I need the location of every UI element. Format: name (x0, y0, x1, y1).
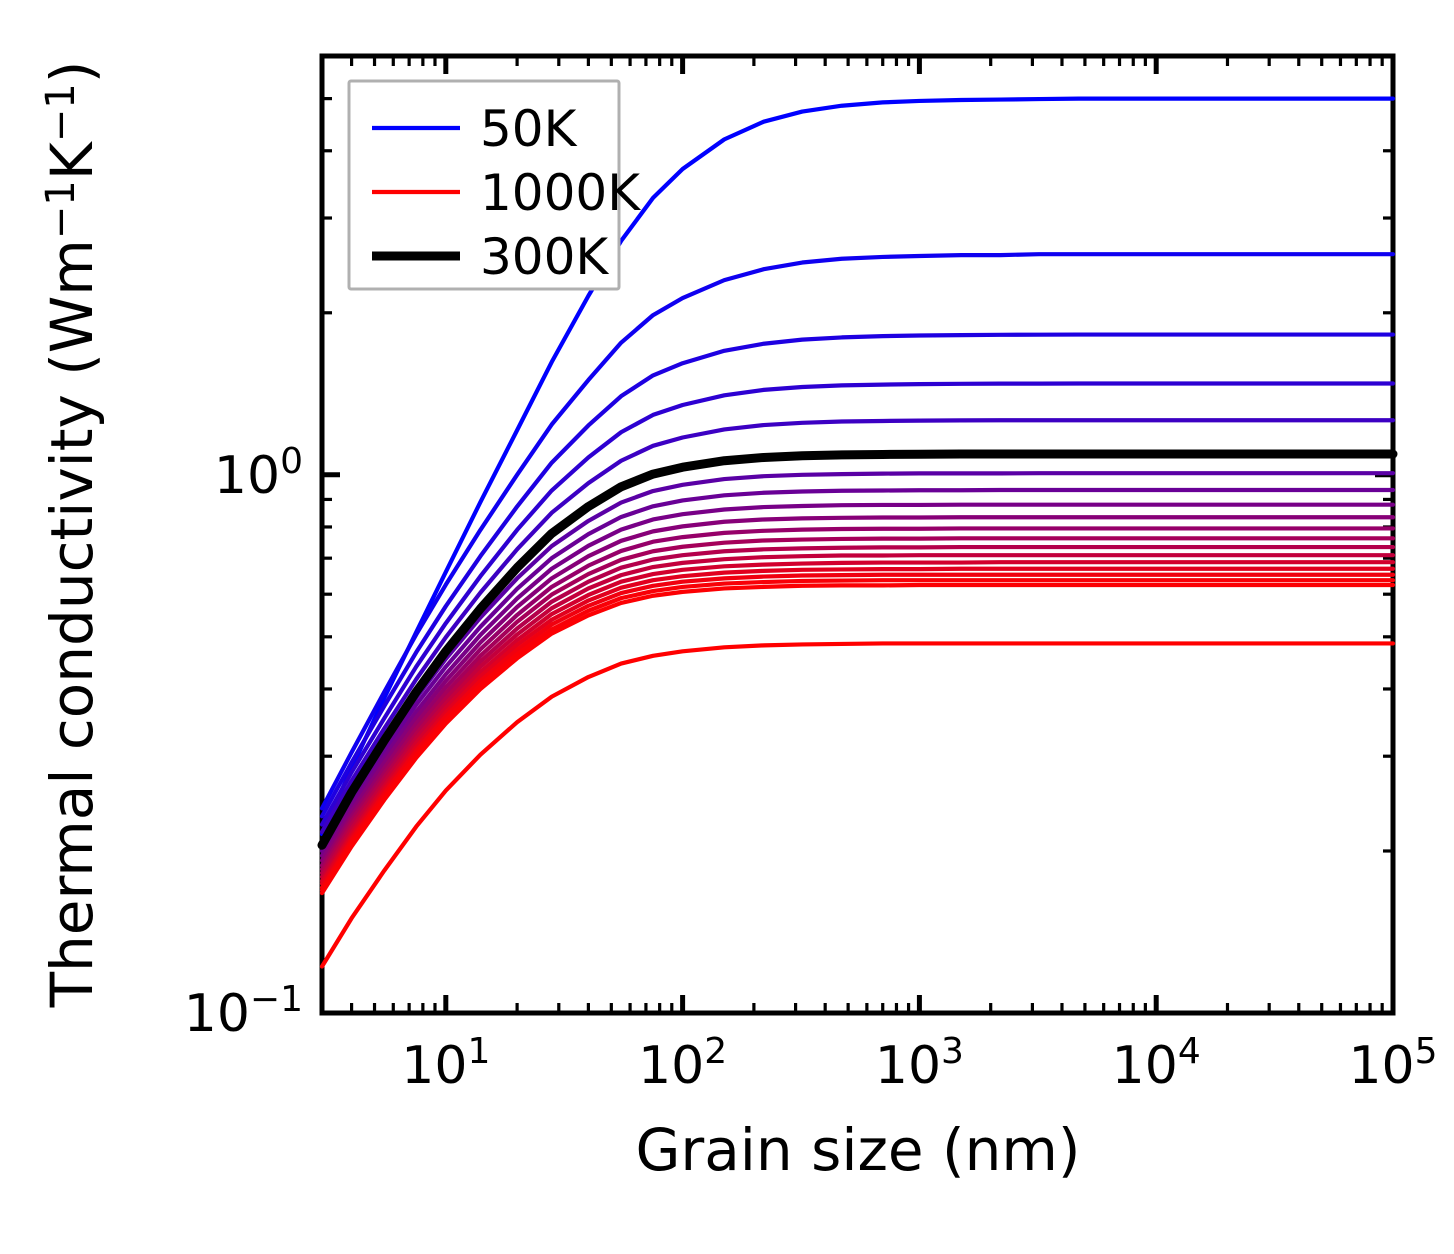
y-axis-label-tail: ) (38, 61, 106, 84)
legend-label-50k: 50K (480, 100, 578, 158)
y-tick-label: 100 (214, 441, 303, 506)
legend-label-1000k: 1000K (480, 164, 641, 222)
x-tick-label: 104 (1112, 1031, 1201, 1096)
x-tick-label: 101 (401, 1031, 490, 1096)
y-axis-label-lead: Thermal conductivity (Wm (38, 239, 106, 1008)
thermal-conductivity-chart: 101102103104105 10010−1 Grain size (nm) … (0, 0, 1454, 1254)
curve-650k (322, 547, 1393, 873)
curve-1000k (322, 643, 1393, 966)
x-tick-label: 102 (638, 1031, 727, 1096)
y-axis-label: Thermal conductivity (Wm−1K−1) (38, 61, 106, 1009)
legend[interactable]: 50K1000K300K (349, 81, 641, 289)
svg-text:Thermal conductivity (Wm−1K−1): Thermal conductivity (Wm−1K−1) (38, 61, 106, 1009)
y-axis-label-mid: K (38, 140, 106, 180)
x-tick-labels: 101102103104105 (401, 1031, 1437, 1096)
y-axis-label-sup2: −1 (38, 83, 84, 142)
x-axis-label: Grain size (nm) (635, 1116, 1080, 1184)
figure-root: 101102103104105 10010−1 Grain size (nm) … (0, 0, 1454, 1254)
legend-label-300k: 300K (480, 228, 609, 286)
x-tick-label: 103 (875, 1031, 964, 1096)
y-tick-label: 10−1 (184, 979, 303, 1044)
y-axis-label-sup1: −1 (38, 180, 84, 239)
x-tick-label: 105 (1348, 1031, 1437, 1096)
y-tick-labels: 10010−1 (184, 441, 303, 1044)
